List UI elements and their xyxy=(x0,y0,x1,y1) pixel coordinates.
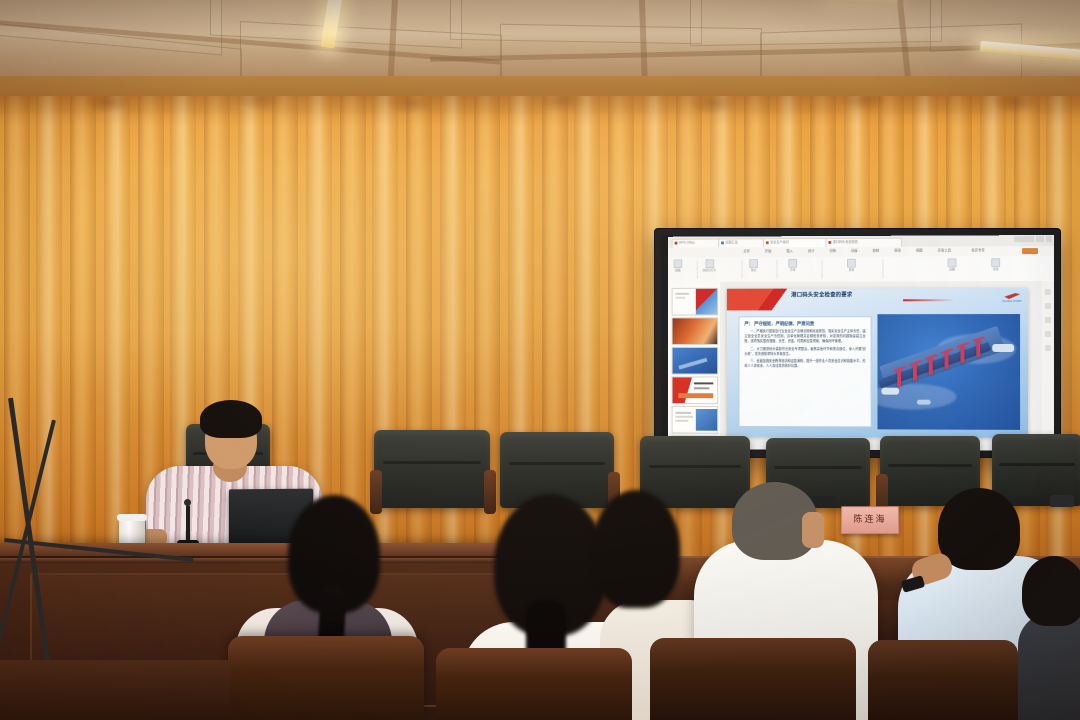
display-bezel xyxy=(655,229,1060,457)
name-placard: 陈连海 xyxy=(841,506,899,534)
desk-device-2 xyxy=(1050,495,1074,507)
chair-front-2 xyxy=(436,648,632,720)
desk-device xyxy=(812,496,836,506)
ceiling xyxy=(0,0,1080,84)
chair-front-4 xyxy=(868,640,1018,720)
chair-front-1 xyxy=(228,636,424,720)
cup-lid xyxy=(117,514,147,521)
chair-front-3 xyxy=(650,638,856,720)
presenter-hair xyxy=(200,400,262,438)
name-placard-text: 陈连海 xyxy=(853,516,886,525)
microphone-head-icon xyxy=(184,499,191,506)
chair-front-5 xyxy=(0,660,230,720)
conference-room-photo: WPS Office 文稿汇总 安全生产培训 港口码头安全检查 xyxy=(0,0,1080,720)
microphone-head-icon xyxy=(778,474,785,481)
chair-back-2 xyxy=(374,430,490,508)
chair-armrest xyxy=(484,470,496,514)
wall-display[interactable]: WPS Office 文稿汇总 安全生产培训 港口码头安全检查 xyxy=(655,229,1060,457)
chair-armrest xyxy=(370,470,382,514)
